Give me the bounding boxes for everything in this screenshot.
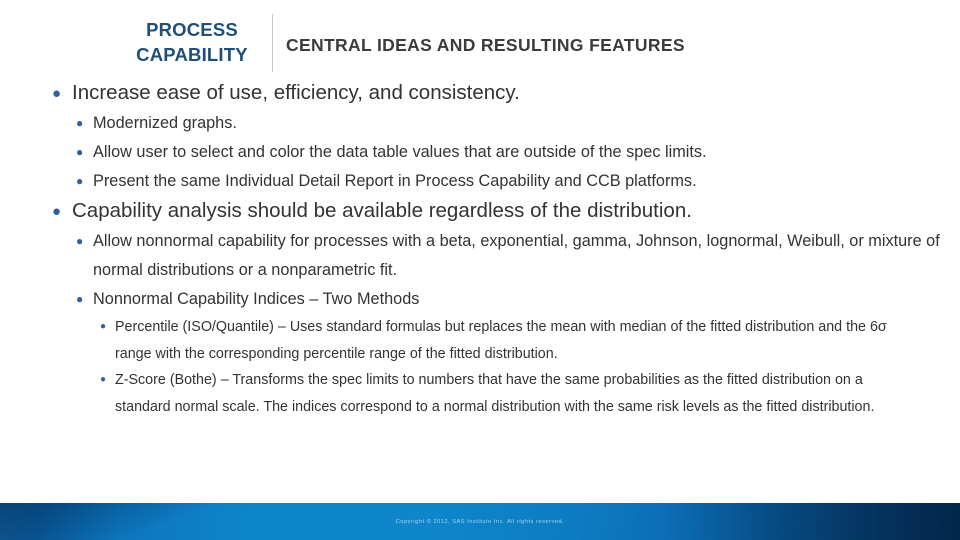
- bullet-level3: ● Percentile (ISO/Quantile) – Uses stand…: [100, 314, 918, 367]
- sas-tagline: THE POWER TO KNOW.: [907, 7, 945, 32]
- bullet-dot-icon: ●: [76, 167, 93, 187]
- bullet-text: Nonnormal Capability Indices – Two Metho…: [93, 285, 960, 314]
- bullet-level3: ● Z-Score (Bothe) – Transforms the spec …: [100, 367, 918, 420]
- sas-logo: [786, 7, 890, 33]
- bullet-level2: ● Nonnormal Capability Indices – Two Met…: [76, 285, 960, 314]
- bullet-level1: ● Increase ease of use, efficiency, and …: [52, 78, 960, 108]
- bullet-dot-icon: ●: [52, 196, 72, 219]
- bullet-text: Allow user to select and color the data …: [93, 138, 960, 167]
- bullet-dot-icon: ●: [76, 138, 93, 158]
- bullet-dot-icon: ●: [52, 78, 72, 101]
- sas-divider: [897, 9, 898, 31]
- bullet-text: Z-Score (Bothe) – Transforms the spec li…: [115, 367, 918, 420]
- eyebrow-line-2: CAPABILITY: [118, 43, 266, 68]
- slide-body: ● Increase ease of use, efficiency, and …: [0, 78, 960, 503]
- bullet-dot-icon: ●: [100, 367, 115, 385]
- bullet-text: Capability analysis should be available …: [72, 196, 960, 226]
- bullet-text: Increase ease of use, efficiency, and co…: [72, 78, 960, 108]
- copyright-text: Copyright © 2012, SAS Institute Inc. All…: [0, 519, 960, 525]
- page-title: CENTRAL IDEAS AND RESULTING FEATURES: [286, 35, 685, 56]
- bullet-level1: ● Capability analysis should be availabl…: [52, 196, 960, 226]
- sas-branding: THE POWER TO KNOW.: [786, 6, 945, 33]
- bullet-text: Allow nonnormal capability for processes…: [93, 227, 960, 285]
- eyebrow-line-1: PROCESS: [118, 18, 266, 43]
- bullet-dot-icon: ●: [76, 109, 93, 129]
- bullet-text: Present the same Individual Detail Repor…: [93, 167, 960, 196]
- bullet-level2: ● Modernized graphs.: [76, 109, 960, 138]
- bullet-text: Percentile (ISO/Quantile) – Uses standar…: [115, 314, 918, 367]
- bullet-dot-icon: ●: [100, 314, 115, 332]
- bullet-dot-icon: ●: [76, 227, 93, 247]
- bullet-level2: ● Present the same Individual Detail Rep…: [76, 167, 960, 196]
- bullet-level2: ● Allow nonnormal capability for process…: [76, 227, 960, 285]
- bullet-dot-icon: ●: [76, 285, 93, 305]
- sas-tagline-line-3: TO KNOW.: [907, 24, 945, 32]
- header-divider: [272, 14, 273, 72]
- jmp-logo: R: [44, 5, 122, 35]
- header-eyebrow: PROCESS CAPABILITY: [118, 18, 266, 67]
- bullet-text: Modernized graphs.: [93, 109, 960, 138]
- bullet-level2: ● Allow user to select and color the dat…: [76, 138, 960, 167]
